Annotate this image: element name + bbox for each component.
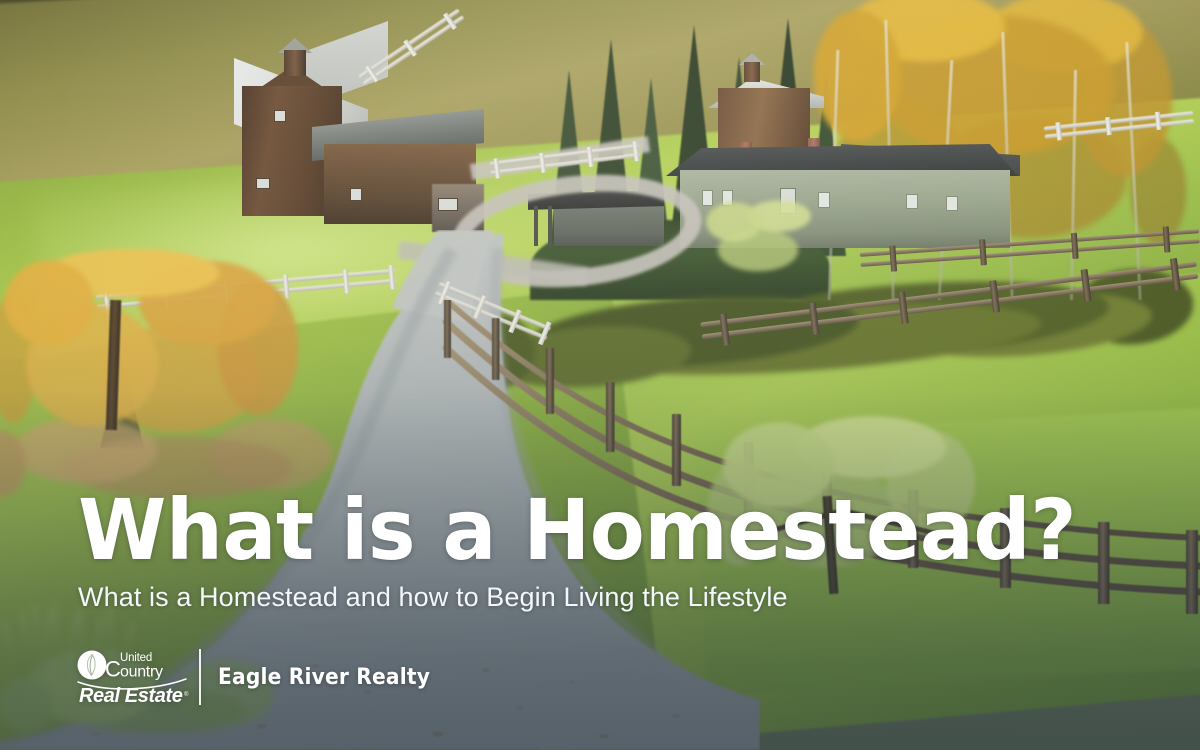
svg-text:United: United xyxy=(120,652,152,664)
svg-text:Real Estate: Real Estate xyxy=(79,685,183,706)
photo-grain xyxy=(0,0,1200,750)
brand-logo-lockup[interactable]: United C ountry Real Estate ® Eagle Rive… xyxy=(74,648,426,706)
svg-text:ountry: ountry xyxy=(120,664,163,681)
logo-divider xyxy=(199,649,201,705)
hero-text-block: What is a Homestead? What is a Homestead… xyxy=(78,494,1160,614)
united-country-logo[interactable]: United C ountry Real Estate ® xyxy=(74,648,194,706)
hero-background-photo xyxy=(0,0,1200,750)
blog-hero-banner: What is a Homestead? What is a Homestead… xyxy=(0,0,1200,750)
svg-text:®: ® xyxy=(184,691,189,698)
svg-text:C: C xyxy=(105,657,121,682)
page-title: What is a Homestead? xyxy=(78,494,1200,568)
page-subtitle: What is a Homestead and how to Begin Liv… xyxy=(78,582,1160,614)
affiliate-office-name[interactable]: Eagle River Realty xyxy=(218,665,430,690)
